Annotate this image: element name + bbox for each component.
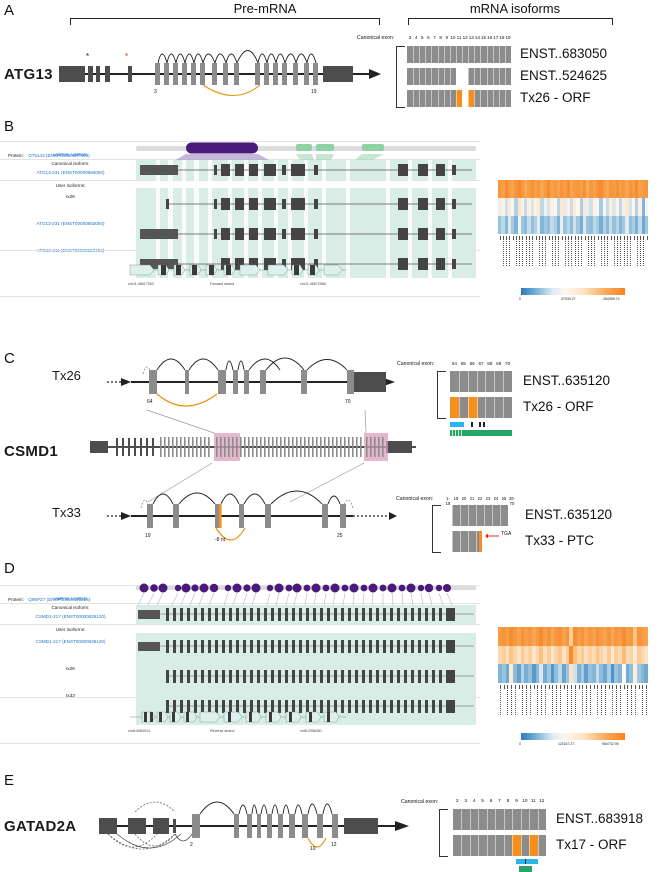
isoform-name: Tx26 - ORF — [520, 90, 591, 105]
csmd1-full-gene-model — [88, 428, 418, 466]
exon-divider — [452, 531, 453, 552]
user-isoform-label: tx26 — [8, 666, 133, 671]
exon-start-number-a: 3 — [154, 89, 157, 95]
exon-divider — [521, 809, 522, 830]
heatmap-colnames-d — [498, 685, 648, 721]
nt-shift-label: -8 nt — [215, 537, 226, 543]
canonical-exon-number: 67 — [477, 361, 486, 366]
exon-divider — [485, 397, 486, 418]
exon-divider — [487, 809, 488, 830]
exon-divider — [425, 68, 426, 85]
canonical-exon-numbers-e: 23456789101112 — [453, 799, 546, 804]
exon-divider — [495, 809, 496, 830]
exon-divider — [503, 397, 504, 418]
exon-divider — [431, 68, 432, 85]
heatmap-cell — [644, 627, 648, 646]
marker-asterisk-black: * — [86, 52, 89, 61]
exon-divider — [477, 397, 478, 418]
user-isoform-label: tx26 — [8, 194, 133, 199]
gene-label-csmd1: CSMD1 — [4, 443, 58, 460]
isoform-row — [444, 505, 516, 526]
exon-divider — [487, 46, 488, 63]
tx33-gene-model: 19 -8 nt 25 — [105, 480, 400, 542]
exon-divider — [413, 68, 414, 85]
genome-right-coord-b: chr11:46672986 — [300, 282, 326, 286]
exon-divider — [493, 46, 494, 63]
exon-block — [478, 397, 512, 418]
exon-divider — [461, 835, 462, 856]
canonical-exon-number: 2 — [453, 799, 461, 804]
marker-asterisk-red: * — [125, 52, 128, 61]
exon-divider — [444, 68, 445, 85]
exon-divider — [508, 505, 509, 526]
heatmap-row — [498, 198, 648, 216]
isoform-row — [407, 90, 511, 107]
colorbar-max-d: 964732.95 — [602, 742, 619, 746]
isoform-row — [450, 397, 512, 418]
exon-divider — [478, 809, 479, 830]
exon-divider — [462, 90, 463, 107]
isoform-names-e: ENST..683918Tx17 - ORF — [556, 809, 665, 857]
exon-end-number-e: 12 — [331, 842, 337, 848]
isoform-heatmap-a — [407, 46, 511, 108]
isoform-row — [407, 46, 511, 63]
exon-divider — [494, 397, 495, 418]
exon-divider — [462, 68, 463, 85]
exon-divider — [474, 68, 475, 85]
exon-divider — [456, 68, 457, 85]
heatmap-row — [498, 216, 648, 234]
exon-divider — [444, 90, 445, 107]
heatmap-cell — [645, 180, 648, 198]
canonical-exon-number: 11 — [529, 799, 537, 804]
expression-heatmap-b — [498, 180, 648, 234]
genome-overview-track-b — [128, 258, 348, 282]
isoform-name: ENST..524625 — [520, 68, 607, 83]
colorbar-max-b: 284308.74 — [603, 297, 620, 301]
isoform-name: Tx26 - ORF — [523, 399, 594, 414]
canonical-exon-number: 7 — [495, 799, 503, 804]
exon-divider — [419, 68, 420, 85]
isoform-names-a: ENST..683050ENST..524625Tx26 - ORF — [520, 46, 660, 108]
exon-divider — [478, 835, 479, 856]
canonical-exon-number: 70 — [503, 361, 512, 366]
exon-divider — [470, 809, 471, 830]
exon-divider — [529, 809, 530, 830]
exon-divider — [477, 371, 478, 392]
exon-divider — [413, 90, 414, 107]
exon-divider — [538, 809, 539, 830]
heatmap-row — [498, 664, 648, 683]
isoform-name: ENST..683050 — [520, 46, 607, 61]
exon-divider — [504, 809, 505, 830]
heatmap-row — [498, 180, 648, 198]
feature-strip-green-c — [450, 430, 512, 436]
exon-block — [529, 835, 537, 856]
exon-divider — [505, 68, 506, 85]
canonical-exon-number: 64 — [450, 361, 459, 366]
exon-divider — [487, 835, 488, 856]
heatmap-cell — [645, 198, 648, 216]
exon-divider — [459, 397, 460, 418]
canonical-exon-numbers-c-top: 64656667686970 — [450, 361, 512, 366]
exon-divider — [484, 505, 485, 526]
canonical-isoform-b[interactable]: ATG13-231 (ENST00000683050) — [8, 170, 133, 175]
exon-block — [512, 835, 520, 856]
exon-divider — [456, 90, 457, 107]
exon-divider — [504, 835, 505, 856]
protein-domain-track-d — [136, 579, 476, 605]
panel-a-letter: A — [4, 2, 14, 19]
exon-divider — [499, 90, 500, 107]
exon-divider — [450, 68, 451, 85]
exon-divider — [505, 90, 506, 107]
user-heading-b: User isoforms: — [8, 183, 133, 188]
genome-strand-d: Reverse strand — [210, 729, 234, 733]
genome-overview-track-d — [128, 705, 348, 729]
isoform-heatmap-e — [453, 809, 546, 857]
heatmap-col-tick — [645, 236, 648, 272]
isoform-name: ENST..635120 — [525, 507, 612, 522]
canonical-exon-number: 65 — [459, 361, 468, 366]
genome-left-coord-b: chr11:46617553 — [128, 282, 154, 286]
isoform-row — [450, 371, 512, 392]
exon-divider — [480, 68, 481, 85]
exon-divider — [468, 46, 469, 63]
exon-divider — [450, 90, 451, 107]
isoform-heatmap-c-bot — [444, 505, 516, 553]
exon-divider — [419, 90, 420, 107]
panel-d: D Protein: Q96PZ7 (ENSP00000489225) UniP… — [0, 555, 665, 770]
isoform-heatmap-c-top — [450, 371, 512, 419]
isoform-bracket-a — [396, 46, 405, 108]
exon-divider — [493, 68, 494, 85]
panel-e-gene-model: 2 10 12 — [95, 788, 415, 860]
canonical-exon-number: 10 — [521, 799, 529, 804]
protein-domain-track-b — [136, 140, 476, 162]
exon-divider — [499, 68, 500, 85]
feature-strip-green-e — [519, 866, 532, 872]
isoform-row — [453, 809, 546, 830]
canonical-exon-number: 4 — [470, 799, 478, 804]
heatmap-cell — [644, 646, 648, 665]
separator-d-5 — [0, 743, 480, 744]
genome-strand-b: Forward strand — [210, 282, 234, 286]
exon-block — [521, 835, 529, 856]
exon-divider — [487, 68, 488, 85]
exon-divider — [468, 505, 469, 526]
exon-block — [459, 397, 468, 418]
user-isoform-labels-d: CSMD1-217 (ENST00000635120)tx26tx33 — [8, 639, 133, 698]
exon-divider — [538, 835, 539, 856]
panel-d-letter: D — [4, 560, 15, 577]
user-isoform-labels-b: tx26ATG13-231 (ENST00000683050)ATG13-211… — [8, 194, 133, 253]
exon-end-number-a: 19 — [311, 89, 317, 95]
expression-heatmap-d — [498, 627, 648, 683]
exon-divider — [444, 46, 445, 63]
db-links-d[interactable]: UniProt, UniParc — [8, 596, 133, 601]
colorbar-min-d: 0 — [519, 742, 521, 746]
exon-divider — [492, 505, 493, 526]
canonical-exon-number: 68 — [485, 361, 494, 366]
colorbar-mid-b: 37039.27 — [561, 297, 576, 301]
exon-divider — [470, 835, 471, 856]
genome-right-coord-d: chr8:2956381 — [300, 729, 322, 733]
exon-divider — [529, 835, 530, 856]
exon-block — [450, 397, 459, 418]
exon-divider — [425, 46, 426, 63]
exon-divider — [484, 531, 485, 552]
isoform-names-c-bot: ENST..635120Tx33 - PTC — [525, 505, 665, 553]
colorbar-mid-d: 121167.27 — [558, 742, 574, 746]
exon-divider — [500, 505, 501, 526]
canonical-heading-b: Canonical isoform: — [8, 161, 133, 166]
exon-divider — [468, 68, 469, 85]
exon-divider — [468, 371, 469, 392]
panel-a-gene-model: 3 19 * * — [55, 36, 385, 98]
exon-divider — [493, 90, 494, 107]
exon-divider — [480, 46, 481, 63]
exon-divider — [468, 90, 469, 107]
exon-divider — [494, 371, 495, 392]
gene-label-gatad2a: GATAD2A — [4, 818, 76, 835]
panel-e: E GATAD2A — [0, 770, 665, 868]
domain-purple — [186, 143, 258, 154]
pre-mrna-header: Pre-mRNA — [150, 1, 380, 16]
heatmap-colorbar-b — [521, 288, 625, 295]
canonical-exon-label-c-bot: Canonical exon: — [396, 496, 433, 502]
panel-c-letter: C — [4, 350, 15, 367]
exon-divider — [476, 505, 477, 526]
heatmap-col-tick — [644, 685, 648, 721]
canonical-exon-label-e: Canonical exon: — [401, 799, 438, 805]
colorbar-min-b: 0 — [519, 297, 521, 301]
exon-divider — [468, 531, 469, 552]
canonical-exon-number: 8 — [504, 799, 512, 804]
exon-divider — [431, 46, 432, 63]
canonical-exon-number: 5 — [478, 799, 486, 804]
isoform-name: ENST..683918 — [556, 811, 643, 826]
exon-divider — [512, 809, 513, 830]
canonical-heading-d: Canonical isoform: — [8, 605, 133, 610]
feature-strip-blue-c — [450, 422, 512, 427]
panel-b: B Protein: O75143 (ENSP00000507809) UniP… — [0, 118, 665, 318]
panel-e-letter: E — [4, 772, 14, 789]
exon-start-number-e: 2 — [190, 842, 193, 848]
canonical-exon-number: 6 — [487, 799, 495, 804]
exon-divider — [461, 809, 462, 830]
exon-divider — [468, 397, 469, 418]
mrna-bracket — [408, 18, 613, 25]
exon-divider — [485, 371, 486, 392]
exon-divider — [521, 835, 522, 856]
isoform-bracket-c-bot — [432, 505, 441, 553]
isoform-row — [453, 835, 546, 856]
tx33-label: Tx33 — [52, 505, 81, 520]
exon-block — [538, 835, 546, 856]
heatmap-colorbar-d — [521, 733, 625, 740]
isoform-bracket-e — [439, 809, 448, 857]
exon-divider — [438, 46, 439, 63]
exon-divider — [480, 90, 481, 107]
exon-divider — [431, 90, 432, 107]
exon-divider — [505, 46, 506, 63]
exon-divider — [499, 46, 500, 63]
stop-codon-label: TGA — [501, 531, 511, 537]
ptc-marker: TGA — [488, 532, 528, 540]
gene-label-atg13: ATG13 — [4, 66, 53, 83]
isoform-row — [407, 68, 511, 85]
exon-divider — [450, 46, 451, 63]
panel-b-letter: B — [4, 118, 14, 135]
canonical-exon-number: 66 — [468, 361, 477, 366]
canonical-isoform-d[interactable]: CSMD1-217 (ENST00000635120) — [8, 614, 133, 619]
exon-block — [479, 531, 482, 552]
exon-block — [407, 46, 511, 63]
exon-divider — [456, 46, 457, 63]
exon-divider — [487, 90, 488, 107]
domain-circles — [140, 584, 452, 593]
canonical-exon-numbers-a: 345678910111213141516171819 — [407, 35, 511, 40]
user-isoform-label[interactable]: CSMD1-217 (ENST00000635120) — [8, 639, 133, 644]
exon-block — [453, 809, 546, 830]
exon-start-number-c-bottom: 19 — [145, 533, 151, 539]
isoform-name: Tx33 - PTC — [525, 533, 594, 548]
canonical-exon-number: 19 — [505, 35, 511, 40]
isoform-name: Tx17 - ORF — [556, 837, 627, 852]
exon-divider — [462, 46, 463, 63]
feature-strip-blue-e — [516, 859, 538, 864]
heatmap-colnames-b — [498, 236, 648, 272]
exon-divider — [474, 46, 475, 63]
isoform-name: ENST..635120 — [523, 373, 610, 388]
canonical-exon-number: 69 — [494, 361, 503, 366]
exon-end-number-c-bottom: 25 — [337, 533, 343, 539]
separator-b-5 — [0, 296, 480, 297]
isoform-bracket-c-top — [437, 371, 446, 419]
exon-divider — [512, 835, 513, 856]
exon-divider — [419, 46, 420, 63]
canonical-exon-number: 3 — [461, 799, 469, 804]
exon-divider — [495, 835, 496, 856]
exon-mid-number-e: 10 — [310, 846, 316, 852]
exon-divider — [438, 68, 439, 85]
exon-divider — [503, 371, 504, 392]
tx26-gene-model: 64 70 — [105, 346, 400, 408]
heatmap-cell — [644, 664, 648, 683]
panel-c: C CSMD1 Tx26 64 70 — [0, 330, 665, 555]
exon-divider — [460, 505, 461, 526]
heatmap-cell — [645, 216, 648, 234]
canonical-exon-label-a: Canonical exon: — [357, 35, 394, 41]
canonical-exon-number: 12 — [538, 799, 546, 804]
exon-divider — [413, 46, 414, 63]
user-heading-d: User isoforms: — [8, 627, 133, 632]
pre-mrna-bracket — [70, 18, 380, 25]
canonical-exon-number: 9 — [512, 799, 520, 804]
exon-divider — [438, 90, 439, 107]
genome-left-coord-d: chr8:4984914 — [128, 729, 150, 733]
panel-a: A Pre-mRNA mRNA isoforms ATG13 — [0, 0, 665, 118]
exon-end-number-c-top: 70 — [345, 399, 351, 405]
tx26-label: Tx26 — [52, 368, 81, 383]
user-isoform-label[interactable]: ATG13-231 (ENST00000683050) — [8, 221, 133, 226]
exon-divider — [452, 505, 453, 526]
heatmap-row — [498, 646, 648, 665]
exon-divider — [425, 90, 426, 107]
mrna-isoforms-header: mRNA isoforms — [420, 1, 610, 16]
exon-divider — [459, 371, 460, 392]
isoform-names-c-top: ENST..635120Tx26 - ORF — [523, 371, 663, 419]
db-links-b[interactable]: UniProt, UniParc — [8, 152, 133, 157]
exon-divider — [474, 90, 475, 107]
exon-divider — [460, 531, 461, 552]
heatmap-row — [498, 627, 648, 646]
canonical-exon-label-c-top: Canonical exon: — [397, 361, 434, 367]
exon-start-number-c-top: 64 — [147, 399, 153, 405]
exon-divider — [476, 531, 477, 552]
